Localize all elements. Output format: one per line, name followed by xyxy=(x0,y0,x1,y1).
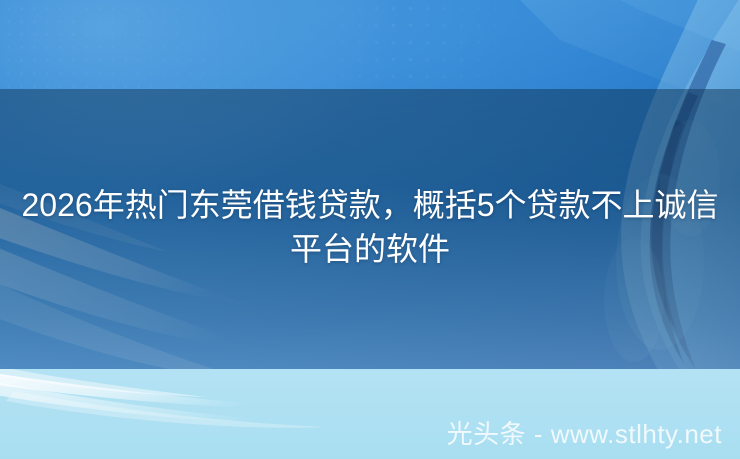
banner-headline: 2026年热门东莞借钱贷款，概括5个贷款不上诚信平台的软件 xyxy=(0,183,740,271)
site-watermark: 光头条 - www.stlhty.net xyxy=(447,417,722,451)
promo-banner: 2026年热门东莞借钱贷款，概括5个贷款不上诚信平台的软件 光头条 - www.… xyxy=(0,0,740,459)
